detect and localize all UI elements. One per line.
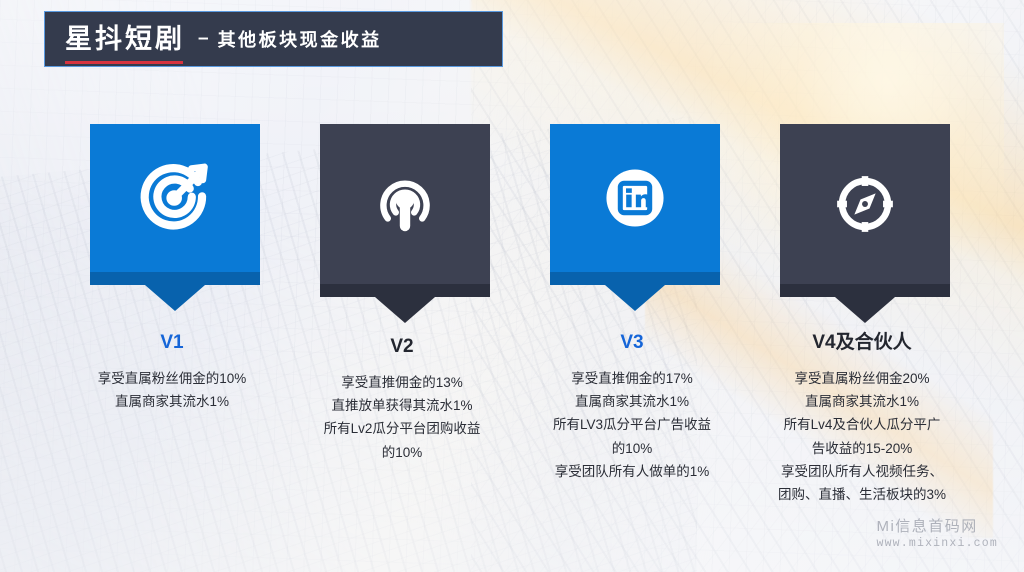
level-benefit-list: 享受直推佣金的13%直推放单获得其流水1%所有Lv2瓜分平台团购收益的10% bbox=[287, 371, 517, 464]
level-benefit-line: 所有Lv4及合伙人瓜分平广 bbox=[747, 413, 977, 436]
level-benefit-line: 的10% bbox=[287, 441, 517, 464]
pin-card-v4[interactable] bbox=[780, 124, 950, 323]
pin-card-pointer bbox=[375, 297, 435, 323]
title-underline bbox=[65, 61, 183, 64]
header-bar: 星抖短剧 – 其他板块现金收益 bbox=[44, 11, 503, 67]
level-name: V2 bbox=[287, 337, 517, 358]
level-benefit-list: 享受直属粉丝佣金的10%直属商家其流水1% bbox=[57, 367, 287, 413]
pin-card-v3[interactable] bbox=[550, 124, 720, 311]
pin-card-band bbox=[320, 284, 490, 297]
level-benefit-list: 享受直属粉丝佣金20%直属商家其流水1%所有Lv4及合伙人瓜分平广告收益的15-… bbox=[747, 367, 977, 506]
level-benefit-line: 享受团队所有人做单的1% bbox=[517, 460, 747, 483]
pin-card-band bbox=[780, 284, 950, 297]
page-title-text: 星抖短剧 bbox=[65, 24, 185, 54]
target-arrow-icon bbox=[134, 157, 216, 239]
level-benefit-line: 享受直推佣金的17% bbox=[517, 367, 747, 390]
level-benefit-line: 直属商家其流水1% bbox=[57, 390, 287, 413]
level-benefit-line: 直推放单获得其流水1% bbox=[287, 394, 517, 417]
level-benefit-line: 告收益的15-20% bbox=[747, 437, 977, 460]
level-name: V1 bbox=[57, 333, 287, 354]
level-info-v4: V4及合伙人享受直属粉丝佣金20%直属商家其流水1%所有Lv4及合伙人瓜分平广告… bbox=[747, 333, 977, 506]
watermark: Mi信息首码网 www.mixinxi.com bbox=[876, 518, 998, 550]
page-title: 星抖短剧 bbox=[65, 26, 185, 53]
level-info-v1: V1享受直属粉丝佣金的10%直属商家其流水1% bbox=[57, 333, 287, 413]
level-benefit-line: 所有Lv2瓜分平台团购收益 bbox=[287, 417, 517, 440]
pin-card-body bbox=[320, 124, 490, 284]
pin-card-band bbox=[90, 272, 260, 285]
linkedin-icon bbox=[593, 156, 677, 240]
level-benefit-line: 享受直属粉丝佣金的10% bbox=[57, 367, 287, 390]
page-subtitle: 其他板块现金收益 bbox=[218, 26, 382, 52]
pin-card-v2[interactable] bbox=[320, 124, 490, 323]
level-benefit-line: 所有LV3瓜分平台广告收益 bbox=[517, 413, 747, 436]
title-separator-dash: – bbox=[198, 28, 209, 50]
compass-icon bbox=[824, 163, 906, 245]
pin-card-body bbox=[550, 124, 720, 272]
level-benefit-line: 直属商家其流水1% bbox=[517, 390, 747, 413]
broadcast-antenna-icon bbox=[365, 164, 445, 244]
pin-card-band bbox=[550, 272, 720, 285]
level-benefit-line: 直属商家其流水1% bbox=[747, 390, 977, 413]
watermark-name: Mi信息首码网 bbox=[876, 518, 998, 537]
level-benefit-line: 享受直属粉丝佣金20% bbox=[747, 367, 977, 390]
pin-card-pointer bbox=[605, 285, 665, 311]
level-benefit-line: 享受团队所有人视频任务、 bbox=[747, 460, 977, 483]
pin-card-body bbox=[780, 124, 950, 284]
level-benefit-line: 享受直推佣金的13% bbox=[287, 371, 517, 394]
slide-canvas: 星抖短剧 – 其他板块现金收益 bbox=[0, 0, 1024, 572]
pin-card-pointer bbox=[835, 297, 895, 323]
level-name: V3 bbox=[517, 333, 747, 354]
pin-card-body bbox=[90, 124, 260, 272]
level-benefit-list: 享受直推佣金的17%直属商家其流水1%所有LV3瓜分平台广告收益的10%享受团队… bbox=[517, 367, 747, 483]
pin-card-v1[interactable] bbox=[90, 124, 260, 311]
level-benefit-line: 团购、直播、生活板块的3% bbox=[747, 483, 977, 506]
level-benefit-line: 的10% bbox=[517, 437, 747, 460]
level-name: V4及合伙人 bbox=[747, 333, 977, 354]
level-info-v2: V2享受直推佣金的13%直推放单获得其流水1%所有Lv2瓜分平台团购收益的10% bbox=[287, 337, 517, 464]
pin-card-pointer bbox=[145, 285, 205, 311]
level-info-v3: V3享受直推佣金的17%直属商家其流水1%所有LV3瓜分平台广告收益的10%享受… bbox=[517, 333, 747, 483]
watermark-url: www.mixinxi.com bbox=[876, 537, 998, 550]
